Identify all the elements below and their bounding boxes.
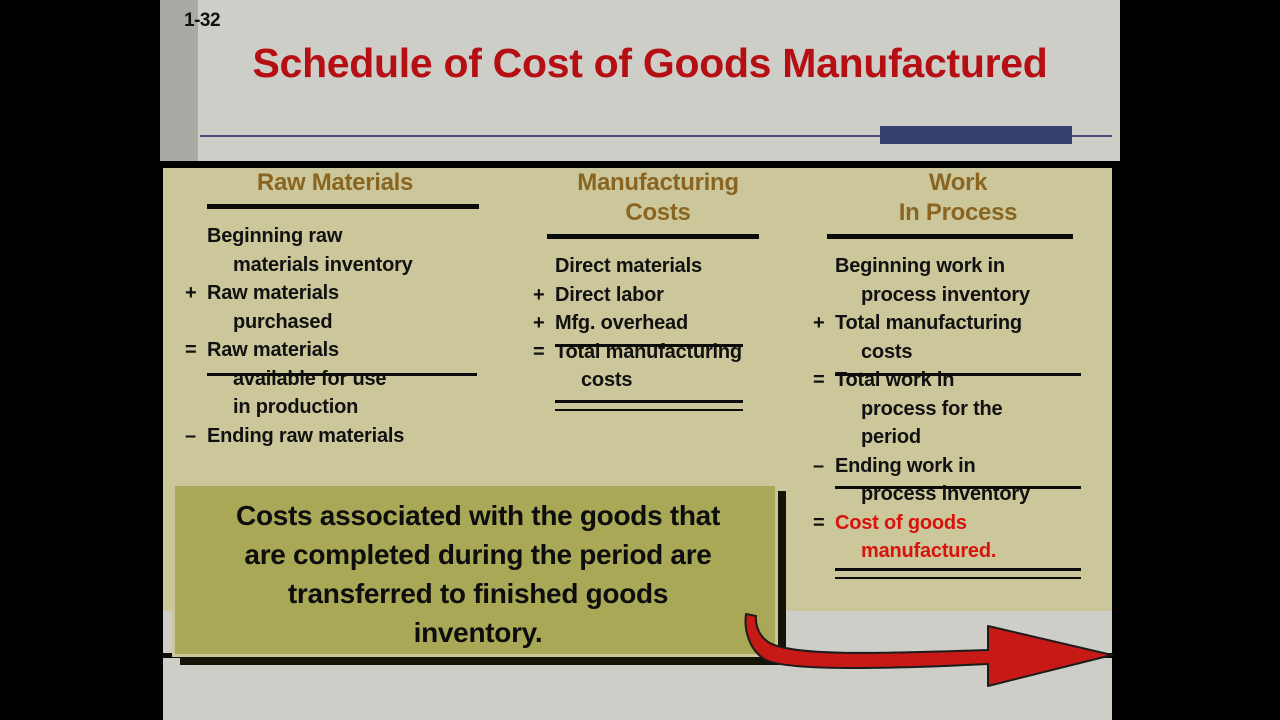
column-heading-work-in-process: Work In Process	[813, 168, 1103, 228]
line-text: purchased	[233, 308, 332, 337]
callout-line: Costs associated with the goods that	[185, 496, 771, 535]
line-text: Beginning work in	[835, 252, 1005, 281]
line-operator: +	[185, 279, 203, 308]
column-body-raw-materials: Beginning raw materials inventory +Raw m…	[185, 222, 485, 450]
subtotal-rule	[835, 373, 1081, 376]
subtotal-rule	[207, 373, 477, 376]
column-heading-raw-materials: Raw Materials	[185, 168, 485, 198]
column-body-work-in-process: Beginning work in process inventory +Tot…	[813, 252, 1103, 566]
column-heading-line2: Costs	[533, 198, 783, 228]
schedule-line: =Raw materials	[185, 336, 485, 365]
header-blue-accent-block	[880, 126, 1072, 144]
column-heading-line1: Manufacturing	[533, 168, 783, 198]
schedule-line: +Mfg. overhead	[533, 309, 783, 338]
schedule-line: in production	[185, 393, 485, 422]
line-text: Total manufacturing	[835, 309, 1022, 338]
column-heading-rule	[547, 234, 759, 239]
schedule-line: Beginning work in	[813, 252, 1103, 281]
line-operator: =	[813, 366, 831, 395]
line-text: in production	[233, 393, 358, 422]
line-text: Ending raw materials	[207, 422, 404, 451]
schedule-line: +Direct labor	[533, 281, 783, 310]
callout-line: inventory.	[185, 613, 771, 652]
line-text: Direct labor	[555, 281, 664, 310]
schedule-line-result: =Cost of goods	[813, 509, 1103, 538]
column-heading-line2: Raw Materials	[185, 168, 485, 198]
total-double-rule	[555, 400, 743, 411]
line-text: process inventory	[861, 480, 1030, 509]
line-operator: =	[533, 338, 551, 367]
schedule-line: =Total manufacturing	[533, 338, 783, 367]
total-double-rule	[835, 568, 1081, 579]
schedule-line: materials inventory	[185, 251, 485, 280]
schedule-line: process for the	[813, 395, 1103, 424]
schedule-line: period	[813, 423, 1103, 452]
line-text: process inventory	[861, 281, 1030, 310]
schedule-line: Beginning raw	[185, 222, 485, 251]
line-operator: +	[533, 309, 551, 338]
line-text: Total work in	[835, 366, 954, 395]
callout-line: are completed during the period are	[185, 535, 771, 574]
column-body-manufacturing-costs: Direct materials +Direct labor +Mfg. ove…	[533, 252, 783, 395]
schedule-line: +Total manufacturing	[813, 309, 1103, 338]
line-text: Raw materials	[207, 279, 339, 308]
line-operator: +	[813, 309, 831, 338]
subtotal-rule	[555, 344, 743, 347]
line-operator: =	[185, 336, 203, 365]
schedule-line: process inventory	[813, 480, 1103, 509]
line-text: Beginning raw	[207, 222, 342, 251]
column-manufacturing-costs: Manufacturing Costs Direct materials +Di…	[533, 168, 783, 395]
callout-line: transferred to finished goods	[185, 574, 771, 613]
line-text: available for use	[233, 365, 386, 394]
schedule-line: =Total work in	[813, 366, 1103, 395]
slide-header: 1-32 Schedule of Cost of Goods Manufactu…	[160, 0, 1120, 161]
column-work-in-process: Work In Process Beginning work in proces…	[813, 168, 1103, 566]
schedule-line: process inventory	[813, 281, 1103, 310]
column-heading-manufacturing-costs: Manufacturing Costs	[533, 168, 783, 228]
column-heading-line2: In Process	[813, 198, 1103, 228]
schedule-line: costs	[813, 338, 1103, 367]
schedule-line-result: manufactured.	[813, 537, 1103, 566]
column-heading-line1: Work	[813, 168, 1103, 198]
line-operator: –	[185, 422, 203, 451]
line-operator: =	[813, 509, 831, 538]
callout-box: Costs associated with the goods that are…	[172, 483, 778, 657]
slide-root: 1-32 Schedule of Cost of Goods Manufactu…	[0, 0, 1280, 720]
slide-number: 1-32	[184, 10, 220, 32]
column-heading-rule	[207, 204, 479, 209]
schedule-line: costs	[533, 366, 783, 395]
schedule-line: –Ending work in	[813, 452, 1103, 481]
line-text: Total manufacturing	[555, 338, 742, 367]
schedule-line: –Ending raw materials	[185, 422, 485, 451]
line-text: costs	[861, 338, 912, 367]
line-text: materials inventory	[233, 251, 413, 280]
line-text: manufactured.	[861, 537, 996, 566]
line-text: Direct materials	[555, 252, 702, 281]
schedule-line: +Raw materials	[185, 279, 485, 308]
line-text: period	[861, 423, 921, 452]
line-text: process for the	[861, 395, 1002, 424]
column-heading-rule	[827, 234, 1073, 239]
column-raw-materials: Raw Materials Beginning raw materials in…	[185, 168, 485, 450]
schedule-line: purchased	[185, 308, 485, 337]
callout-text: Costs associated with the goods that are…	[185, 496, 771, 652]
line-text: costs	[581, 366, 632, 395]
line-text: Raw materials	[207, 336, 339, 365]
line-text: Cost of goods	[835, 509, 967, 538]
line-operator: +	[533, 281, 551, 310]
curved-right-arrow-icon	[740, 598, 1120, 703]
line-text: Ending work in	[835, 452, 976, 481]
schedule-line: Direct materials	[533, 252, 783, 281]
schedule-line: available for use	[185, 365, 485, 394]
line-text: Mfg. overhead	[555, 309, 688, 338]
line-operator: –	[813, 452, 831, 481]
subtotal-rule	[835, 486, 1081, 489]
page-title: Schedule of Cost of Goods Manufactured	[200, 40, 1100, 87]
